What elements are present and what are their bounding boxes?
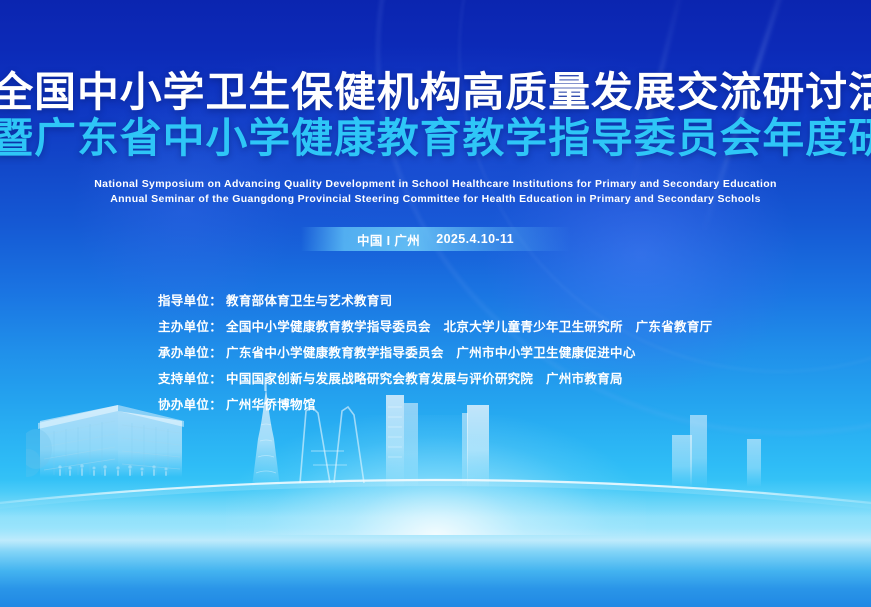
- organizer-value: 广州华侨博物馆: [226, 394, 316, 413]
- organizer-row-guidance: 指导单位： 教育部体育卫生与艺术教育司: [158, 290, 712, 316]
- ground-haze: [0, 479, 871, 549]
- organizer-label: 主办单位：: [158, 316, 222, 335]
- organizer-label: 协办单位：: [158, 394, 222, 413]
- organizer-label: 支持单位：: [158, 368, 222, 387]
- organizer-label: 指导单位：: [158, 290, 222, 309]
- poster-title: 全国中小学卫生保健机构高质量发展交流研讨活动 暨广东省中小学健康教育教学指导委员…: [0, 72, 871, 160]
- right-towers: [672, 415, 761, 487]
- organizer-value: 中国国家创新与发展战略研究会教育发展与评价研究院 广州市教育局: [226, 368, 623, 387]
- subtitle-line-2: Annual Seminar of the Guangdong Provinci…: [0, 192, 871, 207]
- poster-subtitle-english: National Symposium on Advancing Quality …: [0, 177, 871, 207]
- organizer-value: 广东省中小学健康教育教学指导委员会 广州市中小学卫生健康促进中心: [226, 342, 636, 361]
- organizer-row-coorganizer: 协办单位： 广州华侨博物馆: [158, 394, 712, 420]
- organizer-row-host: 主办单位： 全国中小学健康教育教学指导委员会 北京大学儿童青少年卫生研究所 广东…: [158, 316, 712, 342]
- conference-poster: 全国中小学卫生保健机构高质量发展交流研讨活动 暨广东省中小学健康教育教学指导委员…: [0, 0, 871, 607]
- banner-location: 中国 I 广州: [357, 230, 420, 249]
- subtitle-line-1: National Symposium on Advancing Quality …: [0, 177, 871, 192]
- location-date-banner: 中国 I 广州 2025.4.10-11: [301, 227, 571, 251]
- banner-date: 2025.4.10-11: [436, 232, 514, 246]
- organizer-row-organizer: 承办单位： 广东省中小学健康教育教学指导委员会 广州市中小学卫生健康促进中心: [158, 342, 712, 368]
- organizer-value: 教育部体育卫生与艺术教育司: [226, 290, 392, 309]
- organizer-label: 承办单位：: [158, 342, 222, 361]
- title-line-primary: 全国中小学卫生保健机构高质量发展交流研讨活动: [0, 72, 871, 114]
- title-line-secondary: 暨广东省中小学健康教育教学指导委员会年度研讨活动: [0, 118, 871, 160]
- horizon-arc: [0, 480, 871, 505]
- horizon-glow: [226, 415, 646, 535]
- organizer-row-supporter: 支持单位： 中国国家创新与发展战略研究会教育发展与评价研究院 广州市教育局: [158, 368, 712, 394]
- organizer-value: 全国中小学健康教育教学指导委员会 北京大学儿童青少年卫生研究所 广东省教育厅: [226, 316, 712, 335]
- organizer-list: 指导单位： 教育部体育卫生与艺术教育司 主办单位： 全国中小学健康教育教学指导委…: [158, 290, 712, 420]
